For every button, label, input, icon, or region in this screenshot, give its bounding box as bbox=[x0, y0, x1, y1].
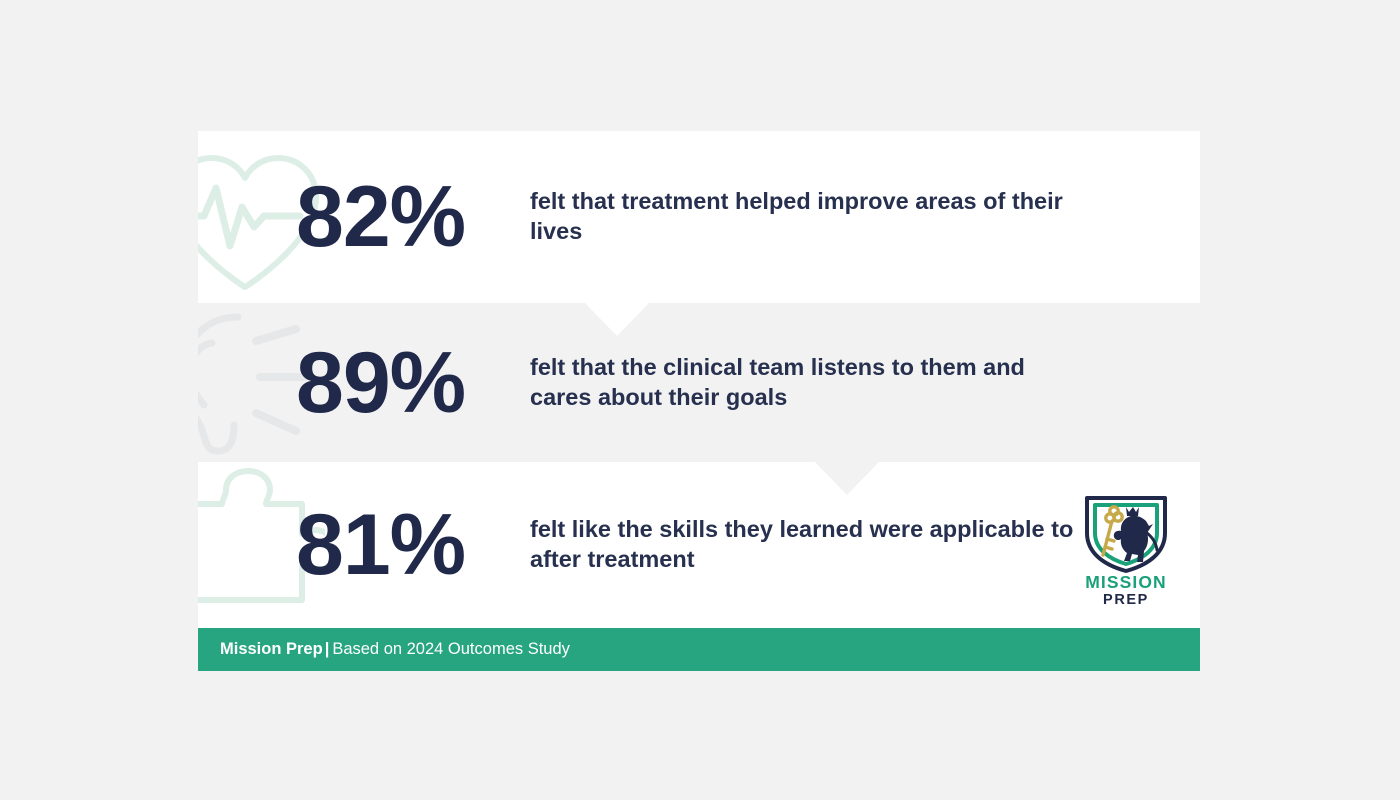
outcomes-infographic: 82% felt that treatment helped improve a… bbox=[198, 131, 1200, 671]
stat-row-1: 82% felt that treatment helped improve a… bbox=[198, 131, 1200, 303]
speech-bubble-tail-2 bbox=[815, 462, 879, 495]
footer-separator: | bbox=[325, 640, 330, 658]
footer-note: Based on 2024 Outcomes Study bbox=[332, 640, 570, 658]
footer-caption: Mission Prep|Based on 2024 Outcomes Stud… bbox=[220, 640, 570, 659]
logo-mission-text: MISSION bbox=[1074, 574, 1178, 592]
speech-bubble-tail-1 bbox=[585, 303, 649, 336]
stat-percent: 81% bbox=[296, 502, 465, 588]
stat-description: felt like the skills they learned were a… bbox=[530, 515, 1090, 574]
footer-brand: Mission Prep bbox=[220, 640, 323, 658]
stat-row-3: 81% felt like the skills they learned we… bbox=[198, 462, 1200, 628]
footer-bar: Mission Prep|Based on 2024 Outcomes Stud… bbox=[198, 628, 1200, 671]
logo-wordmark: MISSION PREP bbox=[1074, 574, 1178, 607]
stat-percent: 89% bbox=[296, 340, 465, 426]
logo-prep-text: PREP bbox=[1074, 593, 1178, 608]
stat-description: felt that treatment helped improve areas… bbox=[530, 187, 1090, 246]
mission-prep-shield-crest-icon bbox=[1074, 493, 1178, 573]
mission-prep-logo: MISSION PREP bbox=[1074, 493, 1178, 597]
stat-percent: 82% bbox=[296, 174, 465, 260]
stat-row-2: 89% felt that the clinical team listens … bbox=[198, 303, 1200, 462]
stat-description: felt that the clinical team listens to t… bbox=[530, 353, 1090, 412]
